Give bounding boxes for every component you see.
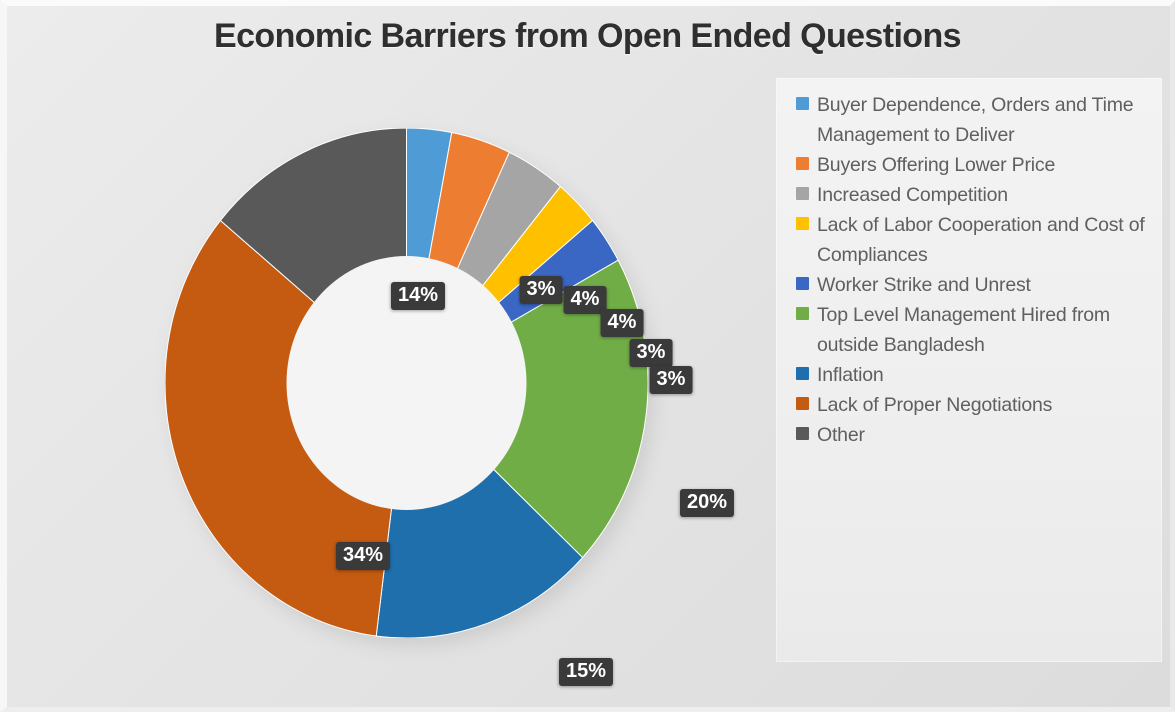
chart-title: Economic Barriers from Open Ended Questi… bbox=[0, 17, 1175, 56]
legend-item[interactable]: Worker Strike and Unrest bbox=[796, 270, 1154, 300]
legend-item[interactable]: Lack of Labor Cooperation and Cost of Co… bbox=[796, 210, 1154, 270]
legend-item-label: Lack of Labor Cooperation and Cost of Co… bbox=[817, 210, 1154, 270]
legend-swatch-icon bbox=[796, 277, 809, 290]
legend-swatch-icon bbox=[796, 367, 809, 380]
legend-swatch-icon bbox=[796, 427, 809, 440]
slice-data-label: 14% bbox=[391, 282, 445, 310]
legend-item-label: Lack of Proper Negotiations bbox=[817, 390, 1052, 420]
legend-swatch-icon bbox=[796, 187, 809, 200]
legend-swatch-icon bbox=[796, 157, 809, 170]
slice-data-label: 34% bbox=[336, 542, 390, 570]
legend-list: Buyer Dependence, Orders and Time Manage… bbox=[796, 90, 1154, 450]
legend-item[interactable]: Lack of Proper Negotiations bbox=[796, 390, 1154, 420]
slice-data-label: 15% bbox=[559, 658, 613, 686]
legend-item[interactable]: Buyer Dependence, Orders and Time Manage… bbox=[796, 90, 1154, 150]
legend-item-label: Worker Strike and Unrest bbox=[817, 270, 1031, 300]
legend-swatch-icon bbox=[796, 97, 809, 110]
legend-item[interactable]: Inflation bbox=[796, 360, 1154, 390]
legend-item-label: Inflation bbox=[817, 360, 884, 390]
slice-data-label: 20% bbox=[680, 489, 734, 517]
legend-item[interactable]: Buyers Offering Lower Price bbox=[796, 150, 1154, 180]
legend-panel: Buyer Dependence, Orders and Time Manage… bbox=[776, 78, 1162, 662]
chart-screenshot: Economic Barriers from Open Ended Questi… bbox=[0, 0, 1175, 712]
legend-item[interactable]: Top Level Management Hired from outside … bbox=[796, 300, 1154, 360]
donut-chart bbox=[165, 128, 648, 638]
legend-swatch-icon bbox=[796, 397, 809, 410]
legend-item-label: Buyer Dependence, Orders and Time Manage… bbox=[817, 90, 1154, 150]
donut-slices-svg bbox=[165, 128, 648, 638]
legend-item[interactable]: Other bbox=[796, 420, 1154, 450]
slice-data-label: 3% bbox=[650, 366, 693, 394]
legend-swatch-icon bbox=[796, 307, 809, 320]
legend-swatch-icon bbox=[796, 217, 809, 230]
legend-item-label: Increased Competition bbox=[817, 180, 1008, 210]
slice-data-label: 3% bbox=[520, 276, 563, 304]
donut-chart-plot-area: 3%4%4%3%3%20%15%34%14% bbox=[120, 95, 720, 675]
legend-item-label: Other bbox=[817, 420, 865, 450]
legend-item-label: Top Level Management Hired from outside … bbox=[817, 300, 1154, 360]
legend-item[interactable]: Increased Competition bbox=[796, 180, 1154, 210]
slice-data-label: 3% bbox=[630, 339, 673, 367]
legend-item-label: Buyers Offering Lower Price bbox=[817, 150, 1055, 180]
slice-data-label: 4% bbox=[601, 309, 644, 337]
